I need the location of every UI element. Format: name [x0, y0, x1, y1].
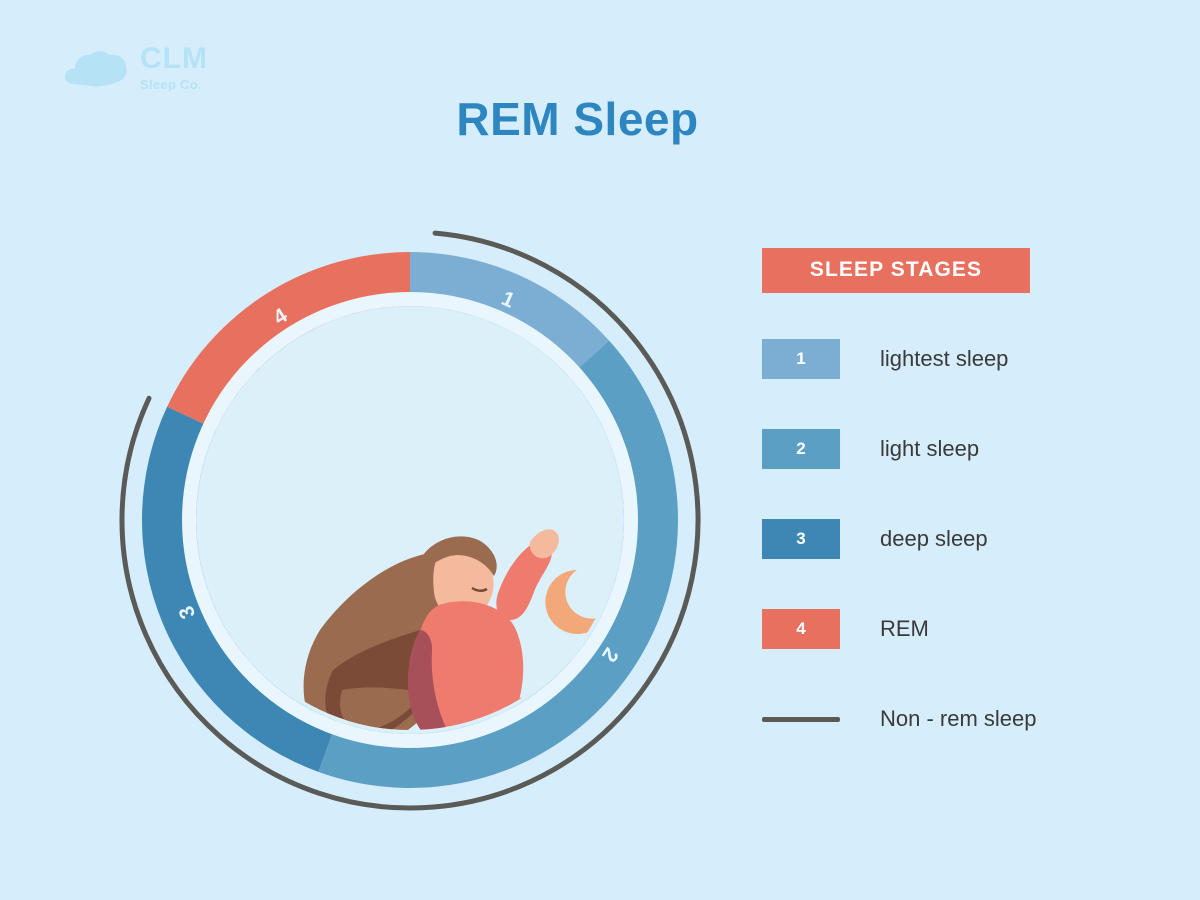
legend-swatch-4: 4: [762, 609, 840, 649]
legend-label-3: deep sleep: [880, 526, 988, 552]
legend-row-1: 1lightest sleep: [762, 339, 1092, 379]
legend-label-2: light sleep: [880, 436, 979, 462]
donut-inner-fill: [197, 307, 623, 733]
legend-header: SLEEP STAGES: [762, 248, 1030, 293]
brand-tagline: Sleep Co.: [140, 78, 208, 91]
legend-items-list: 1lightest sleep2light sleep3deep sleep4R…: [762, 339, 1092, 649]
legend-label-non-rem: Non - rem sleep: [880, 706, 1037, 732]
cloud-icon-svg: [62, 44, 130, 90]
legend-swatch-1: 1: [762, 339, 840, 379]
legend-swatch-3: 3: [762, 519, 840, 559]
legend-swatch-2: 2: [762, 429, 840, 469]
legend-row-2: 2light sleep: [762, 429, 1092, 469]
legend-row-4: 4REM: [762, 609, 1092, 649]
brand-logo[interactable]: CLM Sleep Co.: [62, 34, 292, 100]
brand-text-group: CLM Sleep Co.: [140, 44, 208, 91]
legend-row-3: 3deep sleep: [762, 519, 1092, 559]
page-title: REM Sleep: [0, 92, 1155, 146]
legend-row-non-rem: Non - rem sleep: [762, 699, 1092, 739]
non-rem-line-swatch: [762, 717, 840, 722]
sleep-cycle-donut-chart: 1234: [90, 200, 730, 840]
legend: SLEEP STAGES 1lightest sleep2light sleep…: [762, 248, 1092, 739]
legend-label-4: REM: [880, 616, 929, 642]
cloud-icon: [62, 44, 130, 90]
donut-chart-svg: 1234: [90, 200, 730, 840]
legend-label-1: lightest sleep: [880, 346, 1008, 372]
brand-name: CLM: [140, 44, 208, 74]
